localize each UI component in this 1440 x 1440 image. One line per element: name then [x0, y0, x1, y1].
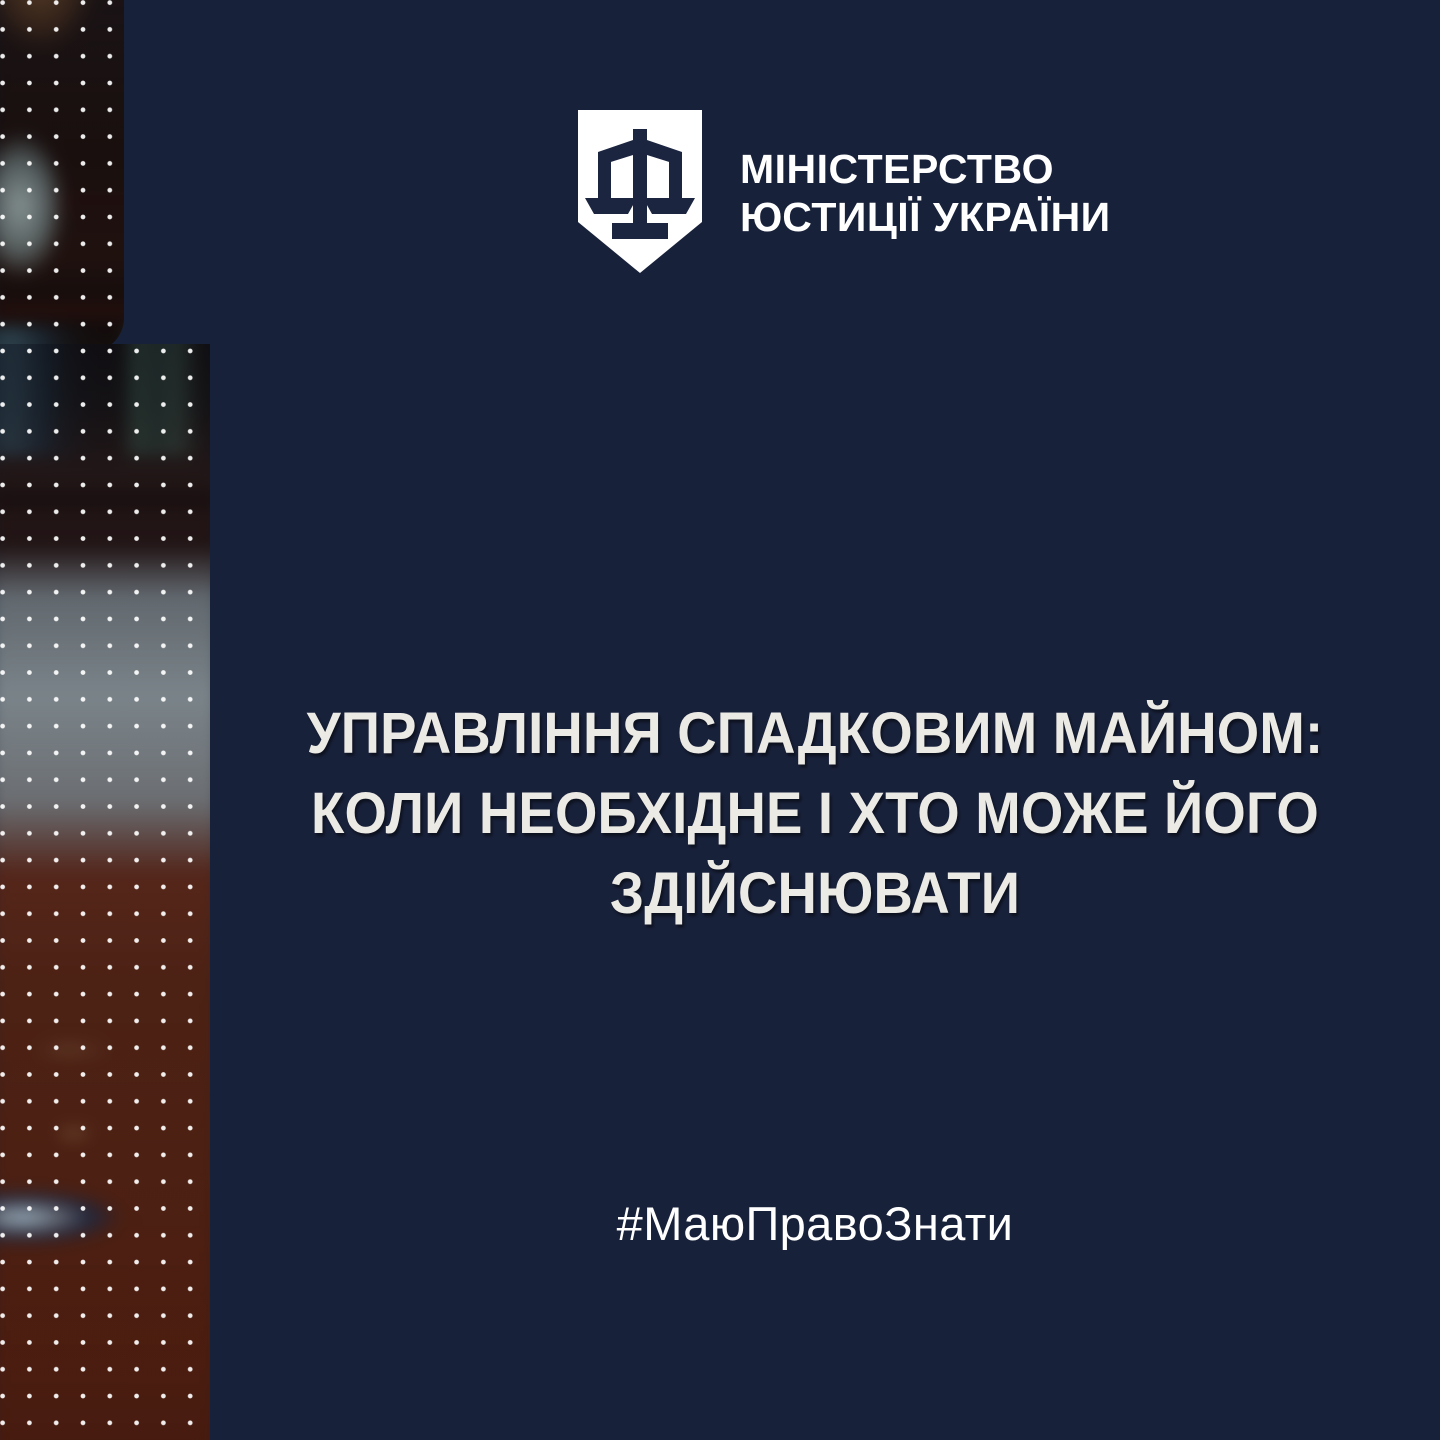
- page-title-line-1: УПРАВЛІННЯ СПАДКОВИМ МАЙНОМ:: [228, 694, 1403, 774]
- shield-scales-of-justice-icon: [578, 110, 702, 273]
- ministry-name-text: МІНІСТЕРСТВО ЮСТИЦІЇ УКРАЇНИ: [740, 146, 1111, 241]
- photo-strip-bottom-segment: [0, 344, 210, 1440]
- decorative-photo-strip: [0, 0, 210, 1440]
- campaign-hashtag: #МаюПравоЗнати: [190, 1196, 1440, 1251]
- dot-grid-overlay: [0, 344, 210, 1440]
- photo-strip-top-segment: [0, 0, 124, 352]
- ministry-logo-lockup: МІНІСТЕРСТВО ЮСТИЦІЇ УКРАЇНИ: [578, 110, 1111, 273]
- poster-canvas: МІНІСТЕРСТВО ЮСТИЦІЇ УКРАЇНИ УПРАВЛІННЯ …: [0, 0, 1440, 1440]
- dot-grid-overlay: [0, 0, 124, 352]
- page-title-line-3: ЗДІЙСНЮВАТИ: [228, 854, 1403, 934]
- page-title: УПРАВЛІННЯ СПАДКОВИМ МАЙНОМ: КОЛИ НЕОБХІ…: [228, 694, 1403, 934]
- page-title-line-2: КОЛИ НЕОБХІДНЕ І ХТО МОЖЕ ЙОГО: [228, 774, 1403, 854]
